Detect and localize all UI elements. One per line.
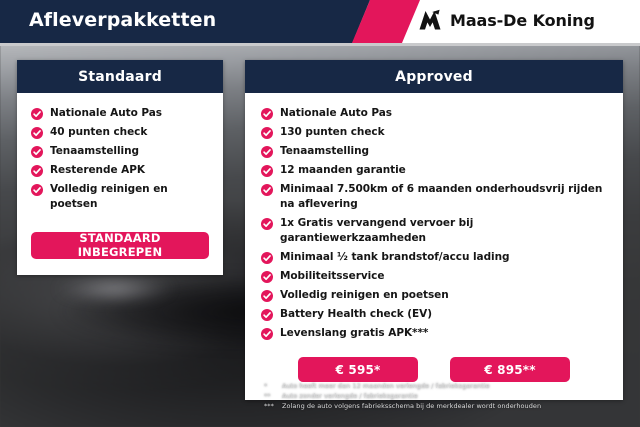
feature-label: 1x Gratis vervangend vervoer bij garanti…: [280, 216, 613, 246]
feature-item: Volledig reinigen en poetsen: [245, 286, 623, 305]
header-divider: [0, 43, 640, 46]
feature-label: Nationale Auto Pas: [280, 106, 392, 121]
check-circle-icon: [31, 127, 43, 139]
feature-item: Tenaamstelling: [245, 142, 623, 161]
feature-item: Tenaamstelling: [17, 142, 223, 161]
feature-item: Nationale Auto Pas: [245, 104, 623, 123]
check-circle-icon: [261, 252, 273, 264]
check-circle-icon: [261, 146, 273, 158]
footnote-text: Zolang de auto volgens fabrieksschema bi…: [282, 401, 541, 411]
feature-item: 12 maanden garantie: [245, 161, 623, 180]
feature-item: 1x Gratis vervangend vervoer bij garanti…: [245, 214, 623, 248]
check-circle-icon: [31, 146, 43, 158]
check-circle-icon: [261, 165, 273, 177]
feature-item: Mobiliteitsservice: [245, 267, 623, 286]
footnote-text: Auto zonder verlengde / fabrieksgarantie: [282, 391, 418, 401]
standaard-card-title: Standaard: [78, 69, 162, 85]
standaard-button-row: STANDAARD INBEGREPEN: [17, 214, 223, 263]
feature-label: Battery Health check (EV): [280, 307, 432, 322]
brand-logo: Maas-De Koning: [418, 9, 595, 31]
check-circle-icon: [31, 165, 43, 177]
standaard-inbegrepen-button[interactable]: STANDAARD INBEGREPEN: [31, 232, 209, 259]
check-circle-icon: [31, 184, 43, 196]
feature-item: Levenslang gratis APK***: [245, 324, 623, 343]
page-title: Afleverpakketten: [29, 9, 216, 31]
standaard-feature-list: Nationale Auto Pas40 punten checkTenaams…: [17, 104, 223, 214]
standaard-package-card: Standaard Nationale Auto Pas40 punten ch…: [17, 60, 223, 275]
feature-label: Volledig reinigen en poetsen: [280, 288, 449, 303]
standaard-card-body: Nationale Auto Pas40 punten checkTenaams…: [17, 93, 223, 275]
check-circle-icon: [261, 127, 273, 139]
approved-card-body: Nationale Auto Pas130 punten checkTenaam…: [245, 93, 623, 400]
page-root: Afleverpakketten Maas-De Koning Standaar…: [0, 0, 640, 427]
footnote-row: ***Zolang de auto volgens fabrieksschema…: [264, 401, 624, 411]
feature-item: Minimaal ½ tank brandstof/accu lading: [245, 248, 623, 267]
feature-label: 12 maanden garantie: [280, 163, 406, 178]
check-circle-icon: [261, 290, 273, 302]
feature-item: Nationale Auto Pas: [17, 104, 223, 123]
feature-label: Tenaamstelling: [280, 144, 369, 159]
feature-item: Resterende APK: [17, 161, 223, 180]
feature-item: 40 punten check: [17, 123, 223, 142]
check-circle-icon: [261, 271, 273, 283]
feature-item: Minimaal 7.500km of 6 maanden onderhouds…: [245, 180, 623, 214]
feature-label: Minimaal ½ tank brandstof/accu lading: [280, 250, 510, 265]
page-header: Afleverpakketten Maas-De Koning: [0, 0, 640, 43]
maas-de-koning-logo-icon: [418, 9, 442, 31]
approved-feature-list: Nationale Auto Pas130 punten checkTenaam…: [245, 104, 623, 343]
approved-package-card: Approved Nationale Auto Pas130 punten ch…: [245, 60, 623, 400]
feature-item: Battery Health check (EV): [245, 305, 623, 324]
check-circle-icon: [261, 328, 273, 340]
feature-label: 40 punten check: [50, 125, 147, 140]
feature-label: 130 punten check: [280, 125, 385, 140]
footnote-text: Auto heeft meer dan 12 maanden verlengde…: [282, 381, 490, 391]
check-circle-icon: [261, 108, 273, 120]
footnote-marker: *: [264, 381, 276, 391]
feature-item: Volledig reinigen en poetsen: [17, 180, 223, 214]
feature-label: Nationale Auto Pas: [50, 106, 162, 121]
check-circle-icon: [261, 184, 273, 196]
standaard-card-header: Standaard: [17, 60, 223, 93]
footnote-marker: **: [264, 391, 276, 401]
footnote-row: *Auto heeft meer dan 12 maanden verlengd…: [264, 381, 624, 391]
brand-name: Maas-De Koning: [450, 11, 595, 30]
price-button-1[interactable]: € 595*: [298, 357, 418, 382]
check-circle-icon: [31, 108, 43, 120]
background-highlight: [40, 272, 190, 306]
footnote-marker: ***: [264, 401, 276, 411]
feature-label: Mobiliteitsservice: [280, 269, 384, 284]
feature-item: 130 punten check: [245, 123, 623, 142]
footnotes-block: *Auto heeft meer dan 12 maanden verlengd…: [264, 381, 624, 411]
feature-label: Resterende APK: [50, 163, 145, 178]
approved-card-header: Approved: [245, 60, 623, 93]
feature-label: Levenslang gratis APK***: [280, 326, 428, 341]
feature-label: Tenaamstelling: [50, 144, 139, 159]
feature-label: Volledig reinigen en poetsen: [50, 182, 213, 212]
check-circle-icon: [261, 218, 273, 230]
approved-card-title: Approved: [395, 69, 473, 85]
check-circle-icon: [261, 309, 273, 321]
price-button-2[interactable]: € 895**: [450, 357, 570, 382]
footnote-row: **Auto zonder verlengde / fabrieksgarant…: [264, 391, 624, 401]
feature-label: Minimaal 7.500km of 6 maanden onderhouds…: [280, 182, 613, 212]
